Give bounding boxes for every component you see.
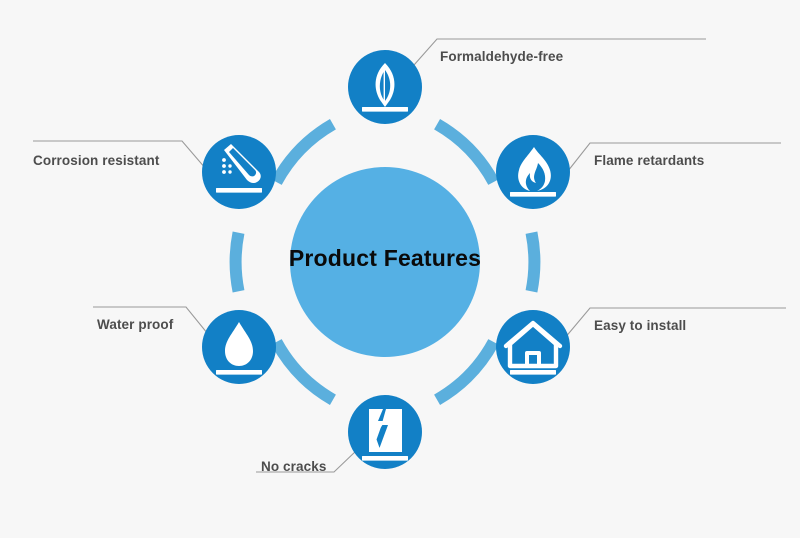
feature-node-no-cracks[interactable] [348,395,422,469]
feature-node-water-proof[interactable] [202,310,276,384]
page-title: Product Features [255,245,515,272]
feature-label-water-proof: Water proof [97,317,173,332]
icon-base-bar [216,188,262,193]
icon-base-bar [362,107,408,112]
feature-node-flame-retardants[interactable] [496,135,570,209]
feature-label-corrosion-resistant: Corrosion resistant [33,153,159,168]
icon-base-bar [510,192,556,197]
ring-segment-5 [236,233,239,292]
icon-base-bar [216,370,262,375]
feature-label-easy-to-install: Easy to install [594,318,686,333]
icon-circle-corrosion-resistant[interactable] [202,135,276,209]
icon-base-bar [362,456,408,461]
feature-label-flame-retardants: Flame retardants [594,153,704,168]
feature-node-easy-to-install[interactable] [496,310,570,384]
ring-segment-1 [437,124,493,182]
icon-base-bar [510,370,556,375]
feature-node-formaldehyde-free[interactable] [348,50,422,124]
feature-label-formaldehyde-free: Formaldehyde-free [440,49,563,64]
ring-segment-6 [276,124,332,182]
feature-node-corrosion-resistant[interactable] [202,135,276,209]
feature-label-no-cracks: No cracks [261,459,326,474]
ring-segment-2 [531,233,534,292]
infographic-canvas: Product Features Formaldehyde-free Flame… [0,0,800,538]
ring-segment-3 [437,342,493,400]
ring-segment-4 [276,342,332,400]
